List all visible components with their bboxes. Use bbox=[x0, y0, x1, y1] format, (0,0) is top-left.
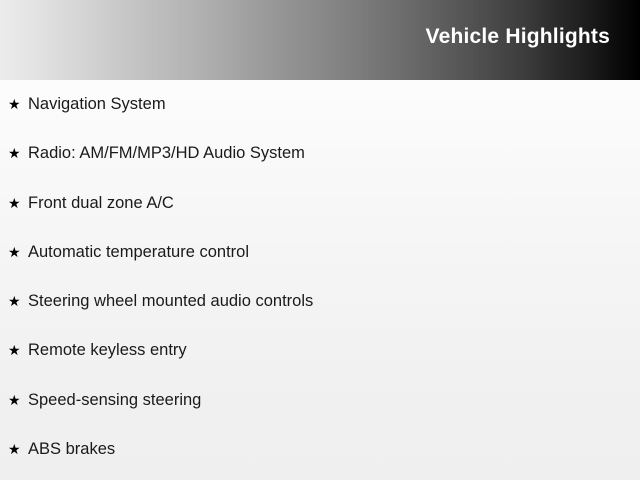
list-item: ★ ABS brakes bbox=[0, 441, 640, 480]
star-icon: ★ bbox=[8, 245, 28, 259]
star-icon: ★ bbox=[8, 343, 28, 357]
header-banner: Vehicle Highlights bbox=[0, 0, 640, 80]
list-item: ★ Navigation System bbox=[0, 96, 640, 145]
star-icon: ★ bbox=[8, 442, 28, 456]
star-icon: ★ bbox=[8, 97, 28, 111]
page-title: Vehicle Highlights bbox=[426, 26, 610, 47]
list-item-label: Radio: AM/FM/MP3/HD Audio System bbox=[28, 145, 305, 162]
list-item: ★ Remote keyless entry bbox=[0, 342, 640, 391]
list-item: ★ Automatic temperature control bbox=[0, 244, 640, 293]
star-icon: ★ bbox=[8, 146, 28, 160]
list-item-label: Front dual zone A/C bbox=[28, 195, 174, 212]
vehicle-highlights-slide: Vehicle Highlights ★ Navigation System ★… bbox=[0, 0, 640, 480]
star-icon: ★ bbox=[8, 393, 28, 407]
vehicle-highlights-list: ★ Navigation System ★ Radio: AM/FM/MP3/H… bbox=[0, 96, 640, 480]
list-item-label: Navigation System bbox=[28, 96, 166, 113]
list-item-label: Automatic temperature control bbox=[28, 244, 249, 261]
list-item-label: ABS brakes bbox=[28, 441, 115, 458]
star-icon: ★ bbox=[8, 294, 28, 308]
list-item: ★ Front dual zone A/C bbox=[0, 195, 640, 244]
list-item: ★ Steering wheel mounted audio controls bbox=[0, 293, 640, 342]
list-item-label: Speed-sensing steering bbox=[28, 392, 201, 409]
list-item-label: Remote keyless entry bbox=[28, 342, 187, 359]
list-item: ★ Speed-sensing steering bbox=[0, 392, 640, 441]
star-icon: ★ bbox=[8, 196, 28, 210]
list-item: ★ Radio: AM/FM/MP3/HD Audio System bbox=[0, 145, 640, 194]
list-item-label: Steering wheel mounted audio controls bbox=[28, 293, 313, 310]
